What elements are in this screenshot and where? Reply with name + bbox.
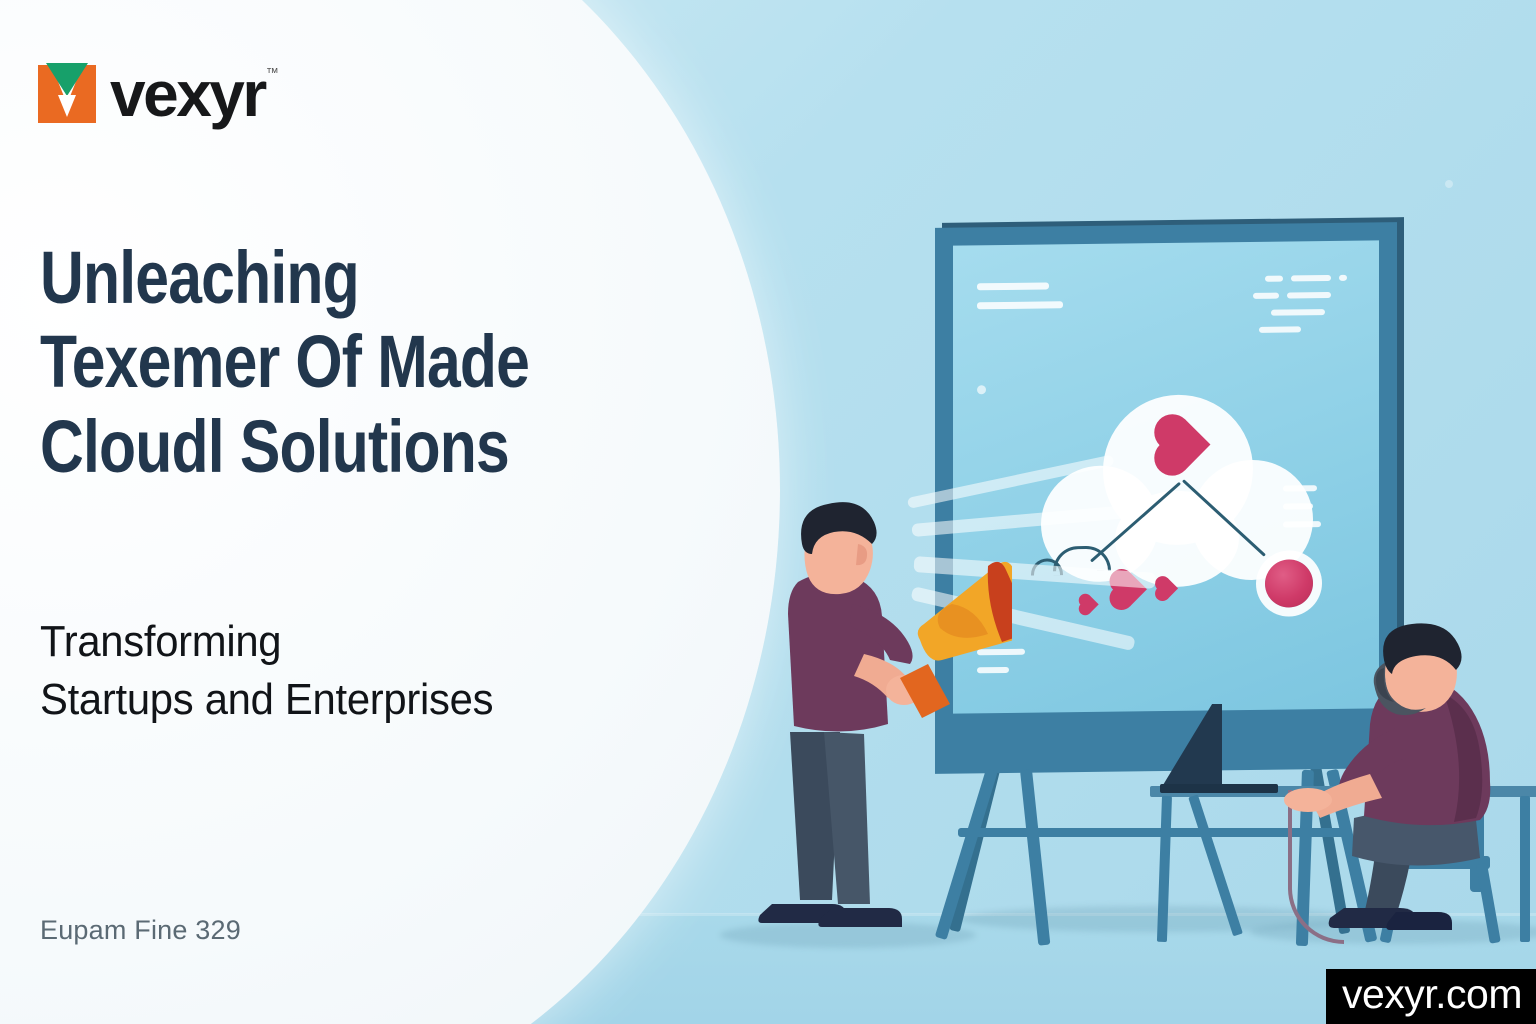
subtitle-line-1: Transforming	[40, 613, 629, 671]
standing-person-with-megaphone	[712, 500, 1012, 940]
placeholder-bar	[1265, 276, 1283, 282]
placeholder-bar	[1287, 292, 1331, 299]
brand-wordmark-text: vexyr	[110, 58, 265, 130]
trademark-symbol: ™	[266, 66, 279, 79]
subtitle-line-2: Startups and Enterprises	[40, 671, 629, 729]
page-title: Unleaching Texemer Of Made Cloudl Soluti…	[40, 236, 548, 489]
placeholder-bar	[1271, 309, 1325, 316]
headline-line-2: Texemer Of Made	[40, 320, 548, 404]
left-content-panel: vexyr ™ Unleaching Texemer Of Made Cloud…	[0, 0, 700, 1024]
brand-wordmark: vexyr ™	[110, 62, 265, 126]
placeholder-bar	[1253, 293, 1279, 299]
headline-line-3: Cloudl Solutions	[40, 405, 548, 489]
placeholder-bar	[1259, 326, 1301, 333]
footnote-text: Eupam Fine 329	[40, 915, 241, 946]
node-circle-icon	[1265, 559, 1313, 608]
page-subtitle: Transforming Startups and Enterprises	[40, 613, 629, 729]
heart-icon-tiny	[1080, 595, 1098, 613]
logo-mark-inner-notch	[58, 95, 76, 117]
placeholder-bar	[977, 301, 1063, 309]
logo-mark-green-triangle	[46, 63, 88, 96]
decorative-dot	[977, 385, 986, 394]
watermark-badge: vexyr.com	[1326, 969, 1536, 1024]
headline-line-1: Unleaching	[40, 236, 548, 320]
placeholder-bar	[1291, 275, 1331, 281]
placeholder-bar	[977, 282, 1049, 290]
slide-canvas: vexyr ™ Unleaching Texemer Of Made Cloud…	[0, 0, 1536, 1024]
illustration-scene	[690, 0, 1536, 1024]
seated-person-with-laptop	[1246, 620, 1536, 950]
placeholder-bar	[1339, 275, 1347, 281]
brand-logo[interactable]: vexyr ™	[38, 62, 265, 126]
vexyr-chevron-mark-icon	[38, 65, 96, 123]
